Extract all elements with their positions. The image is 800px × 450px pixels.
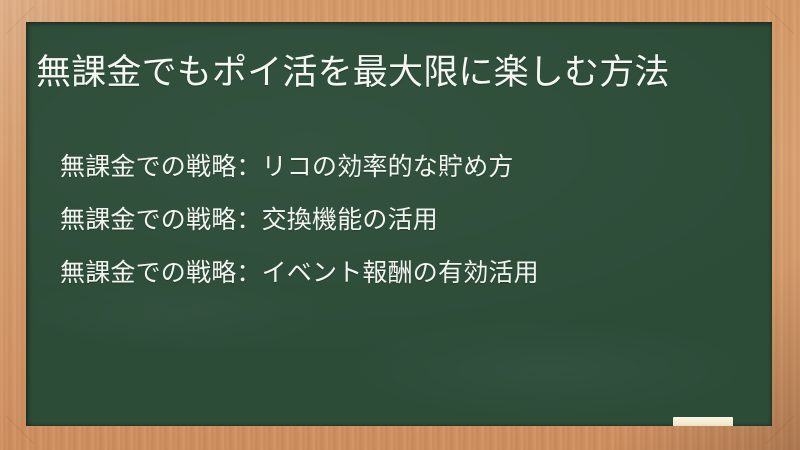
list-item: 無課金での戦略：交換機能の活用 [60,207,750,232]
list-item: 無課金での戦略：リコの効率的な貯め方 [60,154,750,179]
chalkboard-surface: 無課金でもポイ活を最大限に楽しむ方法 無課金での戦略：リコの効率的な貯め方 無課… [26,22,772,426]
page-title: 無課金でもポイ活を最大限に楽しむ方法 [36,51,736,95]
chalkboard-title-card: 無課金でもポイ活を最大限に楽しむ方法 無課金での戦略：リコの効率的な貯め方 無課… [0,0,800,450]
chalk-stick-icon [673,417,733,426]
list-item: 無課金での戦略：イベント報酬の有効活用 [60,260,750,285]
strategy-list: 無課金での戦略：リコの効率的な貯め方 無課金での戦略：交換機能の活用 無課金での… [60,154,750,285]
